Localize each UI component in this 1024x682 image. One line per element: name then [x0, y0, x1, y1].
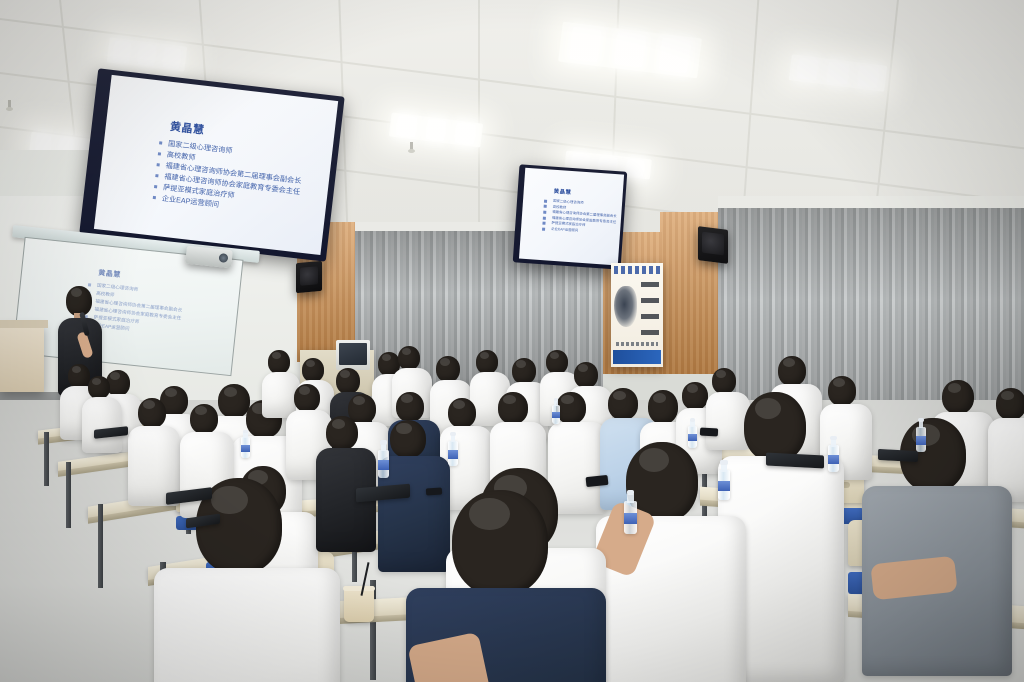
paper-cup: [344, 586, 374, 622]
phone-3: [426, 487, 442, 495]
wall-speaker-right: [698, 226, 728, 264]
water-bottle-9: [241, 430, 250, 458]
slide-title-left: 黄晶慧: [169, 118, 205, 138]
water-bottle-8: [552, 398, 560, 424]
water-bottle-7: [688, 418, 697, 448]
presenter-head: [66, 286, 92, 316]
wall-banner: [611, 263, 663, 367]
phone-2: [700, 428, 718, 437]
ceiling-tv-left: 黄晶慧 国家二级心理咨询师 高校教师 福建省心理咨询师协会第二届理事会副会长 福…: [79, 68, 344, 261]
ceiling-tv-right: 黄晶慧 国家二级心理咨询师 高校教师 福建省心理咨询师协会第二届理事会副会长 福…: [513, 164, 628, 269]
classroom-photo-scene: 黄晶慧 国家二级心理咨询师 高校教师 福建省心理咨询师协会第二届理事会副会长 福…: [0, 0, 1024, 682]
banner-caption-text: [616, 342, 658, 346]
water-bottle-5: [916, 418, 926, 452]
control-desk-monitor: [336, 340, 370, 370]
banner-calligraphy: [641, 282, 659, 340]
slide-bullets-projected: 国家二级心理咨询师 高校教师 福建省心理咨询师协会第二届理事会副会长 福建省心理…: [92, 282, 184, 339]
podium-top-surface: [0, 320, 48, 328]
sprinkler-head-2-icon: [408, 142, 415, 155]
slide-bullets-left: 国家二级心理咨询师 高校教师 福建省心理咨询师协会第二届理事会副会长 福建省心理…: [161, 138, 304, 219]
banner-header-text: [614, 266, 660, 274]
water-bottle-6: [624, 490, 637, 534]
tv-right-screen: 黄晶慧 国家二级心理咨询师 高校教师 福建省心理咨询师协会第二届理事会副会长 福…: [519, 168, 624, 266]
slide-title-projected: 黄晶慧: [98, 268, 121, 280]
notebook-3: [878, 449, 918, 462]
slide-title-right: 黄晶慧: [554, 187, 572, 196]
sprinkler-head-icon: [6, 100, 13, 113]
wall-speaker-left: [296, 261, 322, 293]
banner-bird-artwork: [614, 286, 637, 328]
tv-left-screen: 黄晶慧 国家二级心理咨询师 高校教师 福建省心理咨询师协会第二届理事会副会长 福…: [94, 75, 338, 255]
water-bottle-2: [448, 432, 458, 466]
podium: [0, 324, 44, 392]
banner-footer-bar: [613, 350, 661, 364]
curtain-rail-right: [718, 196, 1024, 208]
slide-bullets-right: 国家二级心理咨询师 高校教师 福建省心理咨询师协会第二届理事会副会长 福建省心理…: [551, 199, 618, 237]
water-bottle-4: [828, 436, 839, 472]
water-bottle-1: [378, 440, 389, 478]
water-bottle-3: [718, 460, 730, 500]
